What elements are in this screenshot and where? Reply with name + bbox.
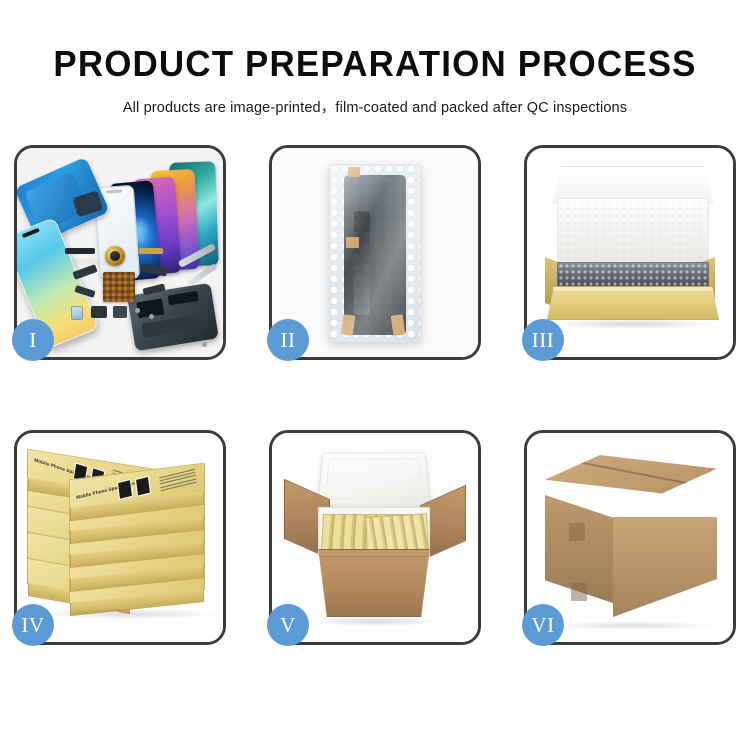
packed-boxes-row: [365, 513, 429, 552]
step-panel-3: III: [524, 145, 736, 360]
step-badge-2: II: [267, 319, 309, 361]
step-badge-4: IV: [12, 604, 54, 646]
sim-tray: [71, 306, 83, 320]
process-steps-grid: I II: [14, 145, 736, 677]
bubble-wrap-package: [329, 164, 421, 342]
foam-lid: [317, 452, 431, 506]
step-badge-1: I: [12, 319, 54, 361]
step-panel-4: Mobile Phone Spare Parts: [14, 430, 226, 645]
box-label-image: [117, 479, 133, 500]
step-badge-6: VI: [522, 604, 564, 646]
box-stack: Mobile Phone Spare Parts: [25, 453, 221, 633]
screw: [135, 308, 140, 313]
page-title: PRODUCT PREPARATION PROCESS: [11, 45, 739, 83]
screw: [202, 342, 207, 347]
component-bar: [139, 248, 163, 254]
header: PRODUCT PREPARATION PROCESS All products…: [0, 0, 750, 117]
step-panel-2: II: [269, 145, 481, 360]
sealed-carton: [545, 455, 717, 615]
step-panel-5: V: [269, 430, 481, 645]
component-bar: [65, 248, 95, 254]
page-subtitle: All products are image-printed，film-coat…: [0, 96, 750, 117]
carton-tab: [569, 523, 585, 541]
step-panel-1: I: [14, 145, 226, 360]
camera-module: [105, 246, 125, 266]
speaker-module: [91, 306, 107, 318]
carton-tab: [571, 583, 587, 601]
white-foam-sheet: [557, 198, 709, 264]
step-badge-5: V: [267, 604, 309, 646]
grey-foam-padding: [557, 262, 709, 288]
screw: [149, 314, 154, 319]
phone-back-housing: [127, 283, 219, 351]
carton-right-face: [613, 517, 717, 617]
step-panel-6: VI: [524, 430, 736, 645]
step-badge-3: III: [522, 319, 564, 361]
carton-body: [312, 549, 436, 617]
chip-grid: [103, 272, 135, 302]
product-preparation-infographic: PRODUCT PREPARATION PROCESS All products…: [0, 0, 750, 750]
box-front-panel: [547, 286, 719, 320]
box-label-image: [135, 476, 151, 497]
battery-connector: [113, 306, 127, 318]
